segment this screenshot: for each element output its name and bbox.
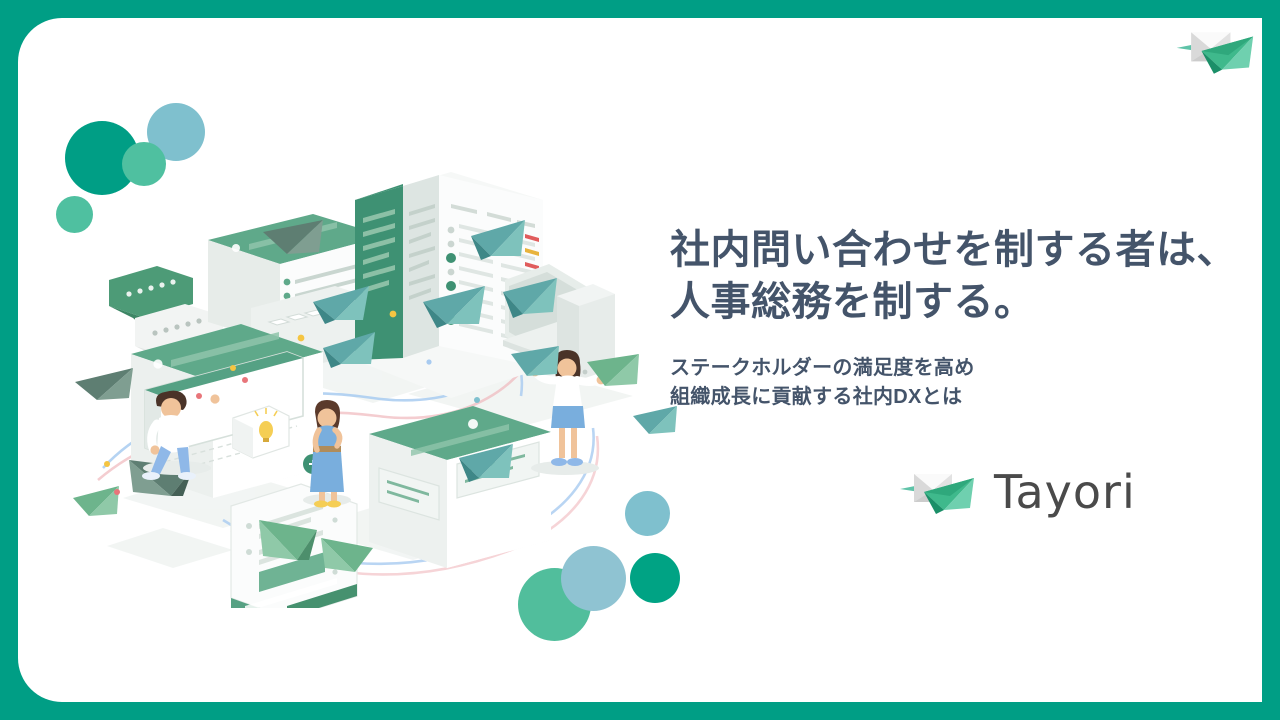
slide-root: 社内問い合わせを制する者は、 人事総務を制する。 ステークホルダーの満足度を高め… [0,0,1280,720]
tayori-wordmark: Tayori [994,469,1136,515]
hero-illustration [73,168,693,608]
headline-block: 社内問い合わせを制する者は、 人事総務を制する。 ステークホルダーの満足度を高め… [670,224,1262,412]
ui-card-detail [369,406,551,568]
tayori-mark-icon [900,462,978,522]
white-content-card: 社内問い合わせを制する者は、 人事総務を制する。 ステークホルダーの満足度を高め… [18,18,1262,702]
page-subtitle: ステークホルダーの満足度を高め 組織成長に貢献する社内DXとは [670,354,1262,412]
page-title: 社内問い合わせを制する者は、 人事総務を制する。 [670,224,1262,328]
corner-tayori-mark-icon [1176,20,1258,82]
tayori-logo-lockup: Tayori [900,462,1136,522]
